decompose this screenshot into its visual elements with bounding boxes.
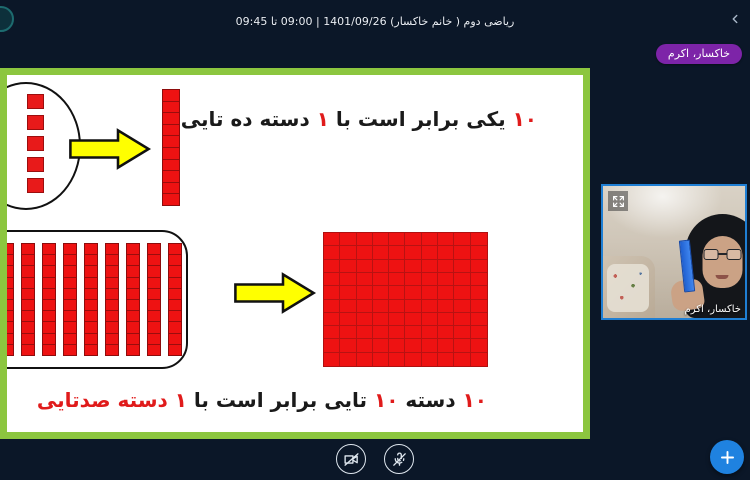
hundred-flat-cell bbox=[357, 286, 373, 299]
rod-segment bbox=[43, 289, 55, 300]
hundred-flat-cell bbox=[454, 246, 470, 259]
hundred-flat-cell bbox=[422, 339, 438, 352]
hundred-flat-cell bbox=[422, 300, 438, 313]
rod-segment bbox=[148, 311, 160, 322]
hundred-flat-cell bbox=[340, 260, 356, 273]
rod-segment bbox=[85, 322, 97, 333]
rod-segment bbox=[22, 311, 34, 322]
rod-segment bbox=[127, 289, 139, 300]
rod-segment bbox=[163, 102, 179, 114]
unit-square bbox=[27, 136, 44, 151]
text-top-number: ۱۰ bbox=[513, 107, 537, 131]
rod-segment bbox=[64, 255, 76, 266]
rod-segment bbox=[64, 278, 76, 289]
hundred-flat-cell bbox=[324, 246, 340, 259]
hundred-flat-cell bbox=[324, 233, 340, 246]
hundred-flat-cell bbox=[422, 273, 438, 286]
hundred-flat-cell bbox=[454, 326, 470, 339]
hundred-flat-cell bbox=[454, 313, 470, 326]
rod-segment bbox=[163, 148, 179, 160]
rod-segment bbox=[43, 300, 55, 311]
sofa-background bbox=[603, 256, 655, 318]
face-shape bbox=[703, 236, 743, 288]
bottom-control-bar bbox=[0, 438, 750, 480]
camera-off-button[interactable] bbox=[336, 444, 366, 474]
text-bottom-number: ۱۰ bbox=[463, 388, 487, 412]
rod-segment bbox=[43, 345, 55, 355]
hundred-flat-cell bbox=[389, 353, 405, 366]
hundred-flat-cell bbox=[373, 233, 389, 246]
rod-segment bbox=[106, 255, 118, 266]
rod-segment bbox=[169, 345, 181, 355]
hundred-flat-cell bbox=[340, 273, 356, 286]
rod-segment bbox=[169, 322, 181, 333]
rod-segment bbox=[127, 244, 139, 255]
rod-segment bbox=[64, 244, 76, 255]
hundred-flat-cell bbox=[405, 353, 421, 366]
hundred-flat-cell bbox=[324, 300, 340, 313]
hundred-flat-cell bbox=[422, 246, 438, 259]
rod-segment bbox=[22, 289, 34, 300]
hundred-flat-cell bbox=[389, 300, 405, 313]
hundred-flat-cell bbox=[324, 313, 340, 326]
hundred-flat-cell bbox=[454, 260, 470, 273]
hundred-flat-cell bbox=[389, 339, 405, 352]
rod-segment bbox=[64, 311, 76, 322]
rod-segment bbox=[85, 244, 97, 255]
rod-segment bbox=[127, 300, 139, 311]
hundred-flat-cell bbox=[340, 326, 356, 339]
rod-segment bbox=[163, 125, 179, 137]
rod-segment bbox=[7, 255, 13, 266]
hundred-flat-cell bbox=[471, 246, 487, 259]
rod-segment bbox=[22, 244, 34, 255]
rod-segment bbox=[85, 255, 97, 266]
rod-segment bbox=[7, 345, 13, 355]
hundred-flat-cell bbox=[405, 233, 421, 246]
hundred-flat-cell bbox=[471, 339, 487, 352]
rod-segment bbox=[64, 300, 76, 311]
hundred-flat-cell bbox=[340, 313, 356, 326]
rod-segment bbox=[43, 334, 55, 345]
unit-square bbox=[27, 178, 44, 193]
rod-segment bbox=[127, 278, 139, 289]
rod-segment bbox=[127, 255, 139, 266]
camera-off-icon bbox=[343, 451, 360, 468]
ten-rod bbox=[42, 243, 56, 356]
hundred-flat-cell bbox=[324, 273, 340, 286]
text-top-tail: دسته ده تایی bbox=[181, 107, 317, 131]
rod-segment bbox=[64, 266, 76, 277]
hundred-flat-cell bbox=[357, 300, 373, 313]
rod-segment bbox=[85, 300, 97, 311]
hundred-flat-cell bbox=[405, 326, 421, 339]
hundred-flat-cell bbox=[389, 233, 405, 246]
unit-squares-grid bbox=[7, 94, 69, 198]
rod-segment bbox=[106, 278, 118, 289]
ten-rod bbox=[7, 243, 14, 356]
rod-segment bbox=[7, 266, 13, 277]
rod-segment bbox=[163, 90, 179, 102]
rod-segment bbox=[22, 334, 34, 345]
rod-segment bbox=[169, 334, 181, 345]
text-bottom-one: ۱ bbox=[175, 388, 187, 412]
hundred-flat-cell bbox=[373, 260, 389, 273]
text-top-one: ۱ bbox=[317, 107, 329, 131]
hundred-flat-cell bbox=[340, 233, 356, 246]
hundred-flat-cell bbox=[357, 339, 373, 352]
rod-segment bbox=[106, 334, 118, 345]
hundred-flat-cell bbox=[373, 353, 389, 366]
rod-segment bbox=[148, 244, 160, 255]
ten-rods-group bbox=[7, 230, 188, 369]
hundred-flat-cell bbox=[405, 313, 421, 326]
participant-name-label: خاکسار، اکرم bbox=[685, 304, 741, 315]
hundred-flat-cell bbox=[454, 300, 470, 313]
hundred-flat-cell bbox=[324, 326, 340, 339]
text-bottom-tail: دسته صدتایی bbox=[37, 388, 175, 412]
rod-segment bbox=[169, 278, 181, 289]
rod-segment bbox=[7, 278, 13, 289]
rod-segment bbox=[7, 244, 13, 255]
rod-segment bbox=[43, 255, 55, 266]
slide-canvas: ۱۰ یکی برابر است با ۱ دسته ده تایی bbox=[7, 75, 583, 432]
rod-segment bbox=[148, 289, 160, 300]
hundred-flat-grid bbox=[323, 232, 488, 367]
rod-segment bbox=[127, 334, 139, 345]
teal-circle-icon bbox=[0, 6, 14, 32]
hundred-flat-cell bbox=[324, 339, 340, 352]
hundred-flat-cell bbox=[373, 339, 389, 352]
rod-segment bbox=[163, 183, 179, 195]
hundred-flat-cell bbox=[373, 286, 389, 299]
ten-rod bbox=[162, 89, 180, 206]
rod-segment bbox=[64, 334, 76, 345]
rod-segment bbox=[43, 244, 55, 255]
hundred-flat-cell bbox=[438, 313, 454, 326]
rod-segment bbox=[7, 322, 13, 333]
rod-segment bbox=[85, 289, 97, 300]
rod-segment bbox=[106, 322, 118, 333]
rod-segment bbox=[7, 300, 13, 311]
rod-segment bbox=[127, 266, 139, 277]
hundred-flat-cell bbox=[324, 286, 340, 299]
hundred-flat-cell bbox=[324, 353, 340, 366]
hundred-flat-cell bbox=[389, 260, 405, 273]
hundred-flat-cell bbox=[471, 233, 487, 246]
rod-segment bbox=[169, 255, 181, 266]
hundred-flat-cell bbox=[471, 326, 487, 339]
ten-rod bbox=[147, 243, 161, 356]
rod-segment bbox=[106, 266, 118, 277]
hundred-flat-cell bbox=[405, 273, 421, 286]
hundred-flat-cell bbox=[438, 233, 454, 246]
hundred-flat-cell bbox=[438, 260, 454, 273]
hundred-flat-cell bbox=[422, 326, 438, 339]
hundred-flat-cell bbox=[340, 339, 356, 352]
participant-avatar bbox=[668, 210, 747, 318]
hundred-flat-cell bbox=[438, 326, 454, 339]
ten-rod bbox=[21, 243, 35, 356]
hundred-flat-cell bbox=[357, 273, 373, 286]
ten-rod bbox=[105, 243, 119, 356]
slide-text-bottom: ۱۰ دسته ۱۰ تایی برابر است با ۱ دسته صدتا… bbox=[37, 388, 487, 412]
rod-segment bbox=[85, 345, 97, 355]
add-button[interactable] bbox=[710, 440, 744, 474]
microphone-off-icon bbox=[391, 451, 408, 468]
hundred-flat-cell bbox=[454, 286, 470, 299]
rod-segment bbox=[148, 334, 160, 345]
rod-segment bbox=[22, 300, 34, 311]
hundred-flat-cell bbox=[373, 326, 389, 339]
presenter-name-badge: خاکسار، اکرم bbox=[656, 44, 742, 64]
right-arrow-icon bbox=[232, 271, 317, 315]
rod-segment bbox=[163, 194, 179, 205]
hundred-flat-cell bbox=[405, 339, 421, 352]
hundred-flat-cell bbox=[422, 286, 438, 299]
rod-segment bbox=[148, 300, 160, 311]
hundred-flat-cell bbox=[373, 246, 389, 259]
ten-rod bbox=[126, 243, 140, 356]
hundred-flat-cell bbox=[340, 353, 356, 366]
hundred-flat-cell bbox=[340, 300, 356, 313]
rod-segment bbox=[64, 289, 76, 300]
rod-segment bbox=[85, 266, 97, 277]
rod-segment bbox=[169, 266, 181, 277]
hundred-flat-cell bbox=[389, 286, 405, 299]
rod-segment bbox=[169, 289, 181, 300]
hundred-flat-cell bbox=[405, 286, 421, 299]
rod-segment bbox=[169, 300, 181, 311]
hundred-flat-cell bbox=[373, 300, 389, 313]
expand-fullscreen-icon[interactable] bbox=[608, 191, 628, 211]
rod-segment bbox=[64, 345, 76, 355]
plus-icon bbox=[718, 448, 737, 467]
rod-segment bbox=[169, 244, 181, 255]
ten-rod bbox=[63, 243, 77, 356]
hundred-flat-cell bbox=[389, 326, 405, 339]
hundred-flat-cell bbox=[389, 246, 405, 259]
rod-segment bbox=[169, 311, 181, 322]
shared-slide[interactable]: ۱۰ یکی برابر است با ۱ دسته ده تایی bbox=[0, 68, 590, 439]
hundred-flat-cell bbox=[405, 260, 421, 273]
participant-video-tile[interactable]: خاکسار، اکرم bbox=[601, 184, 747, 320]
unit-square bbox=[27, 157, 44, 172]
rod-segment bbox=[43, 266, 55, 277]
hundred-flat-cell bbox=[422, 260, 438, 273]
rod-segment bbox=[64, 322, 76, 333]
hundred-flat-cell bbox=[438, 286, 454, 299]
hundred-flat-cell bbox=[373, 273, 389, 286]
hundred-flat-cell bbox=[454, 353, 470, 366]
rod-segment bbox=[163, 136, 179, 148]
rod-segment bbox=[22, 345, 34, 355]
hundred-flat-cell bbox=[357, 326, 373, 339]
hundred-flat-cell bbox=[340, 286, 356, 299]
top-bar: ریاضی دوم ( خانم خاکسار) 1401/09/26 | 09… bbox=[0, 0, 750, 42]
glasses-icon bbox=[704, 249, 742, 260]
rod-segment bbox=[127, 311, 139, 322]
hundred-flat-cell bbox=[471, 300, 487, 313]
hundred-flat-cell bbox=[454, 273, 470, 286]
hundred-flat-cell bbox=[373, 313, 389, 326]
hundred-flat-cell bbox=[422, 353, 438, 366]
rod-segment bbox=[7, 311, 13, 322]
rod-segment bbox=[148, 322, 160, 333]
rod-segment bbox=[106, 345, 118, 355]
rod-segment bbox=[106, 311, 118, 322]
unit-square bbox=[27, 94, 44, 109]
hundred-flat-cell bbox=[438, 273, 454, 286]
ten-rod bbox=[84, 243, 98, 356]
rod-segment bbox=[7, 289, 13, 300]
rod-segment bbox=[43, 322, 55, 333]
text-bottom-number2: ۱۰ bbox=[374, 388, 398, 412]
meeting-window: ریاضی دوم ( خانم خاکسار) 1401/09/26 | 09… bbox=[0, 0, 750, 480]
rod-segment bbox=[22, 278, 34, 289]
text-top-middle: یکی برابر است با bbox=[329, 107, 513, 131]
hundred-flat-cell bbox=[389, 313, 405, 326]
hundred-flat-cell bbox=[340, 246, 356, 259]
slide-text-top: ۱۰ یکی برابر است با ۱ دسته ده تایی bbox=[181, 107, 537, 131]
hundred-flat-cell bbox=[422, 313, 438, 326]
rod-segment bbox=[43, 278, 55, 289]
rod-segment bbox=[106, 244, 118, 255]
rod-segment bbox=[148, 266, 160, 277]
rod-segment bbox=[85, 334, 97, 345]
hundred-flat-cell bbox=[438, 246, 454, 259]
ten-rod bbox=[168, 243, 182, 356]
rod-segment bbox=[7, 334, 13, 345]
rod-segment bbox=[106, 300, 118, 311]
hundred-flat-cell bbox=[405, 300, 421, 313]
rod-segment bbox=[85, 311, 97, 322]
hundred-flat-cell bbox=[471, 286, 487, 299]
rod-segment bbox=[148, 278, 160, 289]
rod-segment bbox=[127, 345, 139, 355]
hundred-flat-cell bbox=[357, 246, 373, 259]
hundred-flat-cell bbox=[357, 353, 373, 366]
hundred-flat-cell bbox=[454, 339, 470, 352]
right-arrow-icon bbox=[67, 127, 152, 171]
text-bottom-mid2: تایی برابر است با bbox=[187, 388, 374, 412]
hundred-flat-cell bbox=[438, 353, 454, 366]
rod-segment bbox=[22, 266, 34, 277]
hundred-flat-cell bbox=[405, 246, 421, 259]
rod-segment bbox=[85, 278, 97, 289]
chevron-left-icon[interactable] bbox=[726, 10, 744, 28]
hundred-flat-cell bbox=[471, 353, 487, 366]
rod-segment bbox=[22, 255, 34, 266]
mouth-shape bbox=[716, 275, 729, 279]
hundred-flat-cell bbox=[471, 273, 487, 286]
rod-segment bbox=[148, 255, 160, 266]
hundred-flat-cell bbox=[471, 260, 487, 273]
hundred-flat-cell bbox=[357, 313, 373, 326]
unit-square bbox=[27, 115, 44, 130]
microphone-off-button[interactable] bbox=[384, 444, 414, 474]
rod-segment bbox=[127, 322, 139, 333]
hundred-flat-cell bbox=[454, 233, 470, 246]
text-bottom-mid1: دسته bbox=[398, 388, 462, 412]
hundred-flat-cell bbox=[324, 260, 340, 273]
hundred-flat-cell bbox=[389, 273, 405, 286]
rod-segment bbox=[163, 113, 179, 125]
rod-segment bbox=[43, 311, 55, 322]
rod-segment bbox=[22, 322, 34, 333]
ten-rods-row bbox=[7, 243, 182, 356]
hundred-flat-cell bbox=[438, 339, 454, 352]
hundred-flat-cell bbox=[471, 313, 487, 326]
hundred-flat-cell bbox=[422, 233, 438, 246]
rod-segment bbox=[163, 171, 179, 183]
hundred-flat-cell bbox=[357, 260, 373, 273]
rod-segment bbox=[106, 289, 118, 300]
rod-segment bbox=[163, 160, 179, 172]
hundred-flat-cell bbox=[438, 300, 454, 313]
rod-segment bbox=[148, 345, 160, 355]
session-title: ریاضی دوم ( خانم خاکسار) 1401/09/26 | 09… bbox=[236, 15, 515, 28]
hundred-flat-cell bbox=[357, 233, 373, 246]
